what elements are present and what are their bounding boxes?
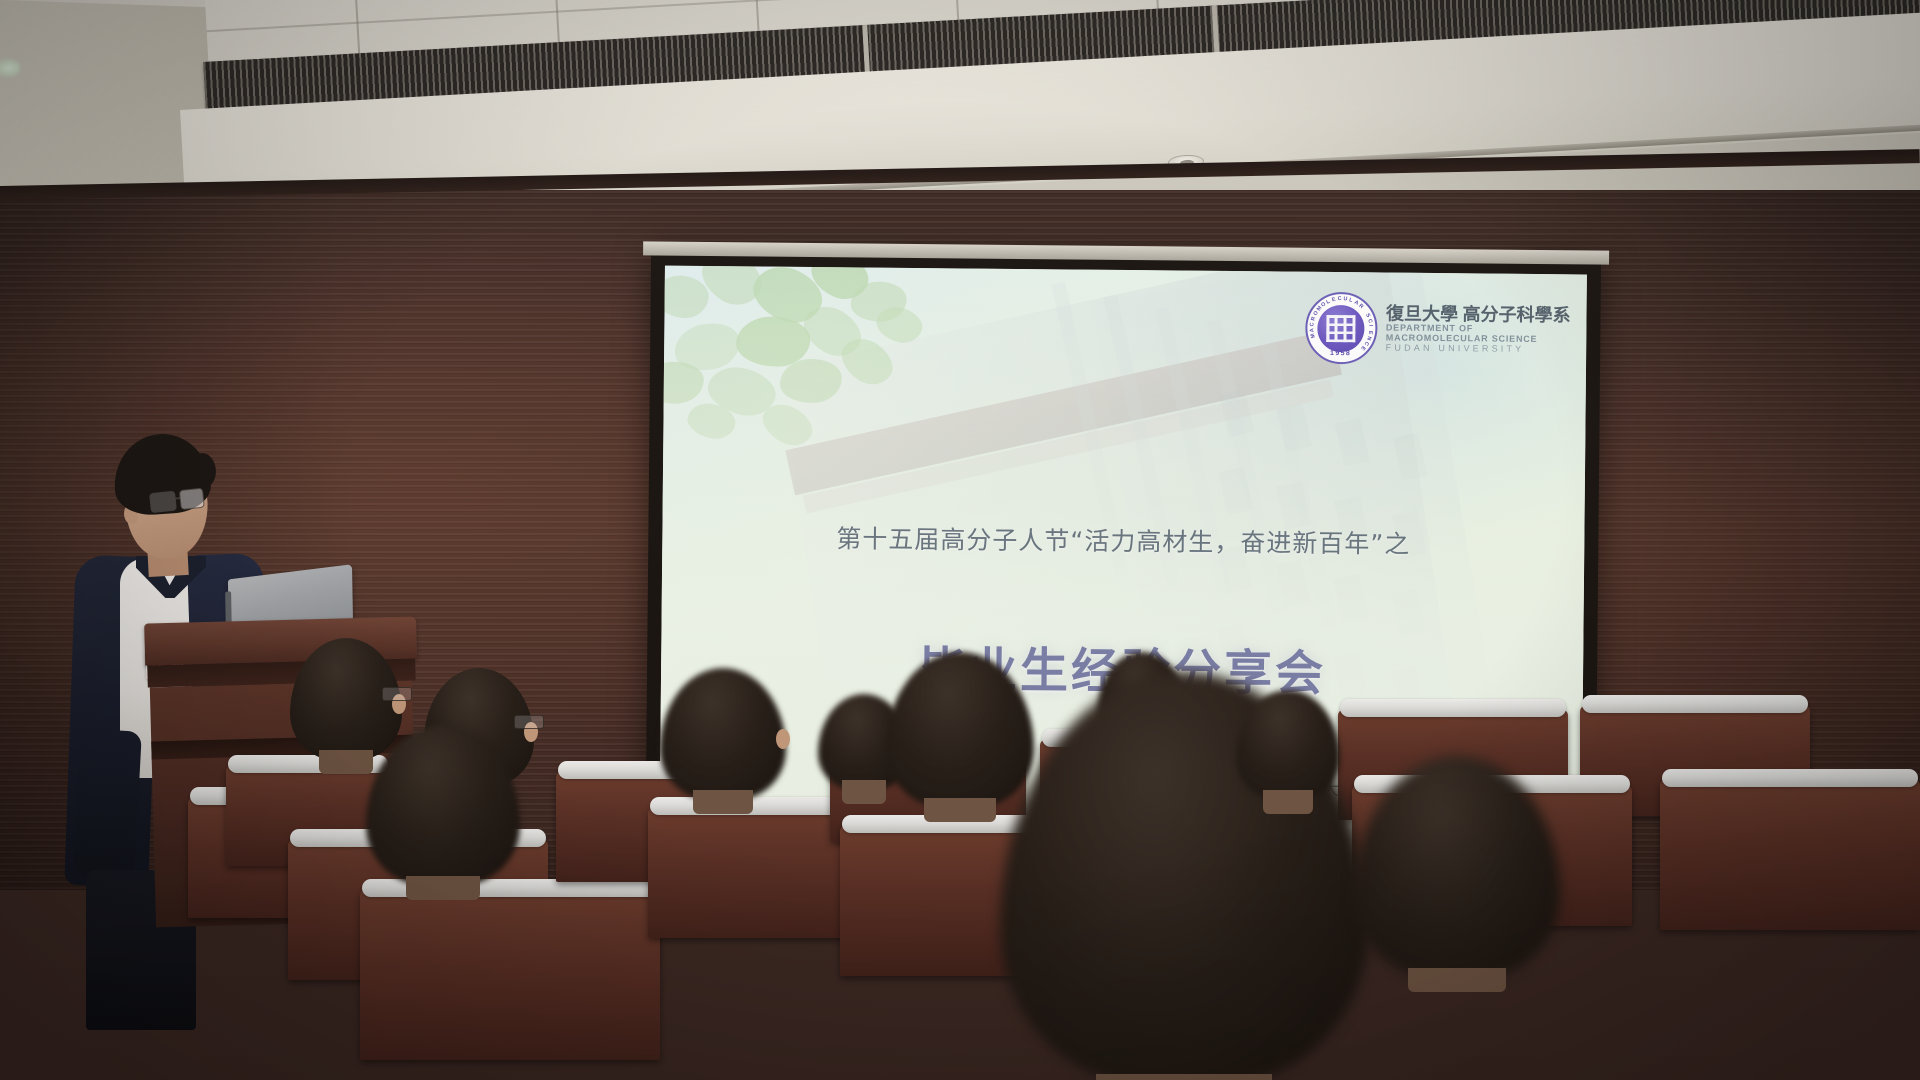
glasses-icon [382,687,412,701]
seal-ring-char: M [1309,332,1316,338]
seal-ring-char: I [1367,325,1373,327]
seal-ring-char: R [1310,316,1317,321]
seal-ring-char: A [1309,328,1316,333]
glasses-lens-right [179,488,205,510]
logo-english-line3: FUDAN UNIVERSITY [1386,343,1571,354]
audience-neck [1096,1074,1273,1080]
audience-head [660,668,786,800]
seal-ring-char: U [1343,296,1348,302]
glasses-lens-left [149,491,177,514]
seal-ring-char: C [1366,318,1373,324]
seal-emblem-icon [1317,304,1364,351]
lecture-hall-scene: MACROMOLECULAR SCIENCE 1958 復旦大學 高分子科學系 … [0,0,1920,1080]
department-logo: MACROMOLECULAR SCIENCE 1958 復旦大學 高分子科學系 … [1305,292,1571,367]
audience-head [1236,690,1340,800]
macromolecular-science-seal-icon: MACROMOLECULAR SCIENCE 1958 [1305,292,1378,365]
seal-ring-char: L [1348,297,1353,304]
audience-neck [924,798,995,822]
audience-neck [1263,790,1313,814]
audience-member [1354,756,1560,978]
audience-member [660,668,786,800]
audience-neck [319,750,373,774]
audience-neck [406,876,480,900]
auditorium-seat[interactable] [360,890,660,1060]
audience-head [366,726,520,886]
seal-ring-char: C [1337,296,1342,302]
logo-wordmark: 復旦大學 高分子科學系 DEPARTMENT OF MACROMOLECULAR… [1386,304,1571,354]
audience-neck [842,780,886,804]
audience-neck [693,790,753,814]
audience-head [1354,756,1560,978]
auditorium-seat[interactable] [1660,780,1920,930]
seal-year: 1958 [1307,350,1375,358]
audience-member [1236,690,1340,800]
seal-ring-char: E [1366,330,1372,334]
audience-member [366,726,520,886]
seal-ring-char: C [1309,322,1315,326]
audience-neck [1408,968,1507,992]
audience-ear [776,729,790,749]
